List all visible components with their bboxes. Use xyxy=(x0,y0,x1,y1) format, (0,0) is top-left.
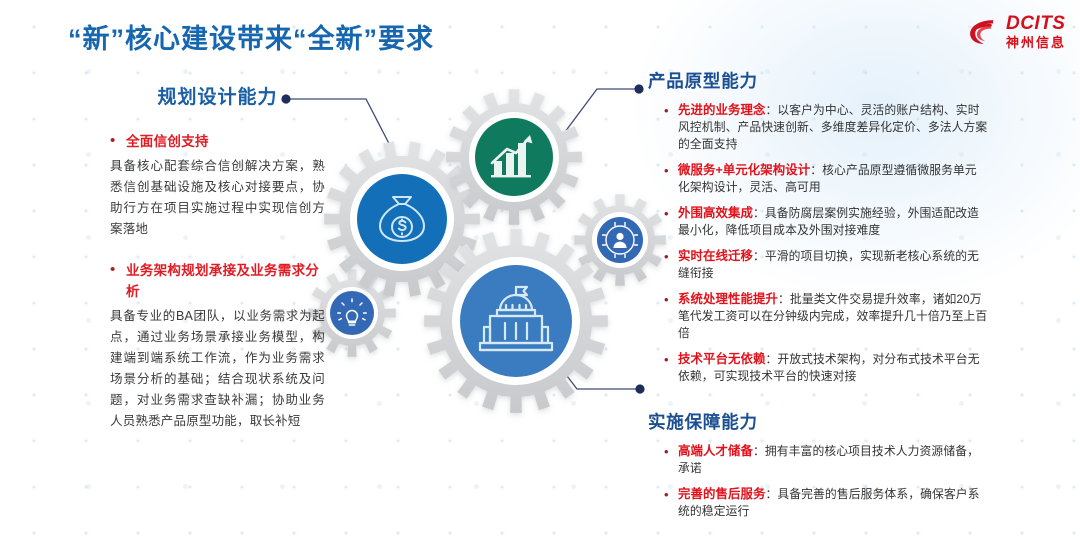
right-bullet-item: • 外围高效集成：具备防腐层案例实施经验，外围适配改造最小化，降低项目成本及外围… xyxy=(648,205,988,239)
bullet-dot-icon: • xyxy=(110,131,126,152)
right-bullet-sep: ： xyxy=(753,249,765,263)
section-heading: 产品原型能力 xyxy=(648,68,988,93)
growth-chart-gear xyxy=(446,89,582,225)
bullet-dot-icon: • xyxy=(664,291,678,342)
bullet-dot-icon: • xyxy=(664,162,678,196)
right-bullet-key: 技术平台无依赖 xyxy=(678,352,765,366)
bullet-dot-icon: • xyxy=(664,102,678,153)
right-bullet-item: • 技术平台无依赖：开放式技术架构，对分布式技术平台无依赖，可实现技术平台的快速… xyxy=(648,351,988,385)
right-bullet-item: • 完善的售后服务：具备完善的售后服务体系，确保客户系统的稳定运行 xyxy=(648,486,988,520)
right-bullet-item: • 先进的业务理念：以客户为中心、灵活的账户结构、实时风控机制、产品快速创新、多… xyxy=(648,102,988,153)
right-column: 产品原型能力 • 先进的业务理念：以客户为中心、灵活的账户结构、实时风控机制、产… xyxy=(648,68,988,529)
right-bullet-key: 实时在线迁移 xyxy=(678,249,753,263)
bullet-dot-icon: • xyxy=(664,351,678,385)
right-bullet-sep: ： xyxy=(765,103,777,117)
section-product-prototype: 产品原型能力 • 先进的业务理念：以客户为中心、灵活的账户结构、实时风控机制、产… xyxy=(648,68,988,385)
bullet-dot-icon: • xyxy=(664,443,678,477)
right-bullet-text: 实时在线迁移：平滑的项目切换，实现新老核心系统的无缝衔接 xyxy=(678,248,988,282)
right-bullet-key: 完善的售后服务 xyxy=(678,487,765,501)
swoosh-logo-icon xyxy=(965,15,999,49)
right-bullet-text: 高端人才储备：拥有丰富的核心项目技术人力资源储备，承诺 xyxy=(678,443,988,477)
right-bullet-text: 外围高效集成：具备防腐层案例实施经验，外围适配改造最小化，降低项目成本及外围对接… xyxy=(678,205,988,239)
right-bullet-item: • 实时在线迁移：平滑的项目切换，实现新老核心系统的无缝衔接 xyxy=(648,248,988,282)
left-bullet-item: • 业务架构规划承接及业务需求分析 xyxy=(110,260,325,302)
bullet-dot-icon: • xyxy=(664,486,678,520)
bullet-dot-icon: • xyxy=(110,260,126,302)
right-bullet-sep: ： xyxy=(765,487,777,501)
bullet-dot-icon: • xyxy=(664,248,678,282)
logo-text: DCITS 神州信息 xyxy=(1006,14,1066,49)
right-bullet-text: 微服务+单元化架构设计：核心产品原型遵循微服务单元化架构设计，灵活、高可用 xyxy=(678,162,988,196)
right-bullet-text: 系统处理性能提升：批量类文件交易提升效率，诸如20万笔代发工资可以在分钟级内完成… xyxy=(678,291,988,342)
right-bullet-item: • 高端人才储备：拥有丰富的核心项目技术人力资源储备，承诺 xyxy=(648,443,988,477)
logo-cn-text: 神州信息 xyxy=(1006,36,1066,49)
right-bullet-sep: ： xyxy=(810,163,822,177)
section-implementation-guarantee: 实施保障能力 • 高端人才储备：拥有丰富的核心项目技术人力资源储备，承诺 • 完… xyxy=(648,409,988,520)
right-bullet-item: • 系统处理性能提升：批量类文件交易提升效率，诸如20万笔代发工资可以在分钟级内… xyxy=(648,291,988,342)
right-bullet-key: 微服务+单元化架构设计 xyxy=(678,163,810,177)
right-bullet-item: • 微服务+单元化架构设计：核心产品原型遵循微服务单元化架构设计，灵活、高可用 xyxy=(648,162,988,196)
left-bullet-item: • 全面信创支持 xyxy=(110,131,325,152)
left-bullet-body: 具备核心配套综合信创解决方案，熟悉信创基础设施及核心对接要点，协助行方在项目实施… xyxy=(110,156,325,240)
right-bullet-sep: ： xyxy=(765,352,777,366)
right-bullet-key: 外围高效集成 xyxy=(678,206,753,220)
right-bullet-sep: ： xyxy=(778,292,790,306)
left-column: 规划设计能力 • 全面信创支持 具备核心配套综合信创解决方案，熟悉信创基础设施及… xyxy=(110,82,325,452)
logo-en-text: DCITS xyxy=(1006,14,1066,33)
section-heading: 实施保障能力 xyxy=(648,409,988,434)
right-bullet-text: 技术平台无依赖：开放式技术架构，对分布式技术平台无依赖，可实现技术平台的快速对接 xyxy=(678,351,988,385)
page-title: “新”核心建设带来“全新”要求 xyxy=(68,17,434,56)
right-bullet-sep: ： xyxy=(753,444,765,458)
left-bullet-title: 全面信创支持 xyxy=(126,131,209,152)
right-bullet-text: 完善的售后服务：具备完善的售后服务体系，确保客户系统的稳定运行 xyxy=(678,486,988,520)
gear-illustration xyxy=(300,95,680,425)
right-bullet-key: 系统处理性能提升 xyxy=(678,292,778,306)
brand-logo: DCITS 神州信息 xyxy=(965,14,1066,49)
right-bullet-sep: ： xyxy=(753,206,765,220)
left-bullet-title: 业务架构规划承接及业务需求分析 xyxy=(126,260,325,302)
bullet-dot-icon: • xyxy=(664,205,678,239)
left-column-heading: 规划设计能力 xyxy=(110,82,325,109)
right-bullet-text: 先进的业务理念：以客户为中心、灵活的账户结构、实时风控机制、产品快速创新、多维度… xyxy=(678,102,988,153)
right-bullet-key: 高端人才储备 xyxy=(678,444,753,458)
left-bullet-body: 具备专业的BA团队，以业务需求为起点，通过业务场景承接业务模型，构建端到端系统工… xyxy=(110,306,325,432)
right-bullet-key: 先进的业务理念 xyxy=(678,103,765,117)
